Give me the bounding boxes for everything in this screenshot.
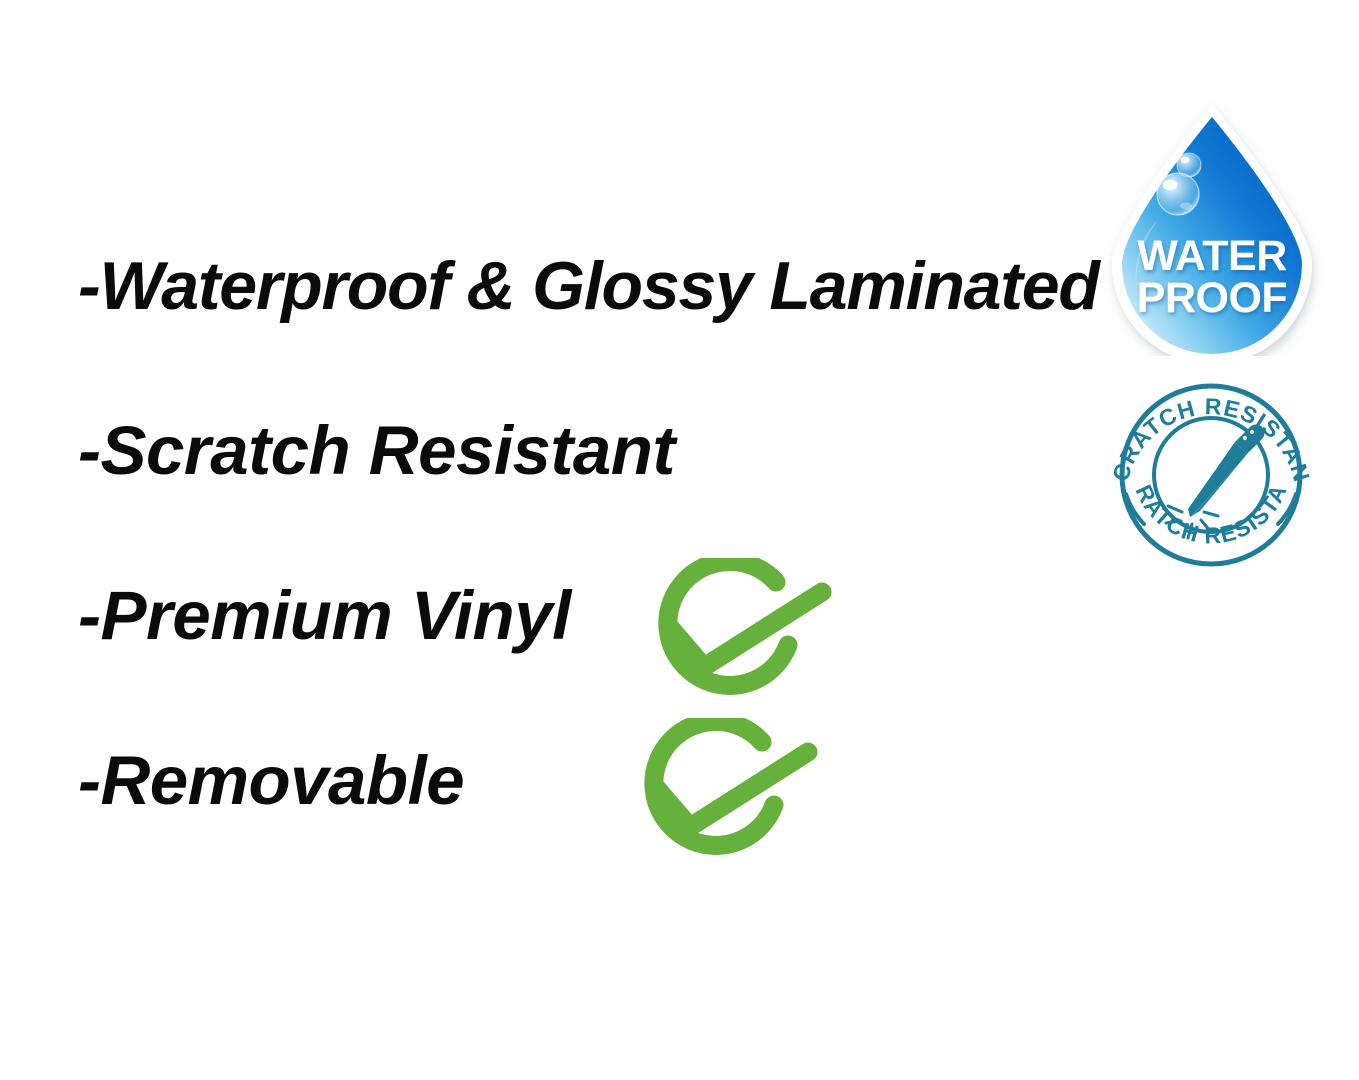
stamp-text-top: SCRATCH RESISTANT xyxy=(1104,382,1315,485)
product-feature-graphic: -Waterproof & Glossy Laminated -Scratch … xyxy=(0,0,1359,1080)
green-check-circle-premium-vinyl xyxy=(644,558,840,708)
feature-label: -Scratch Resistant xyxy=(78,413,675,489)
feature-label: -Waterproof & Glossy Laminated xyxy=(78,248,1099,324)
feature-item-waterproof-glossy-laminated: -Waterproof & Glossy Laminated xyxy=(78,248,1098,413)
feature-item-premium-vinyl: -Premium Vinyl xyxy=(78,578,1098,743)
check-tick xyxy=(654,752,808,827)
stamp-text-top-path: SCRATCH RESISTANT xyxy=(1104,382,1315,485)
scratch-resistant-stamp-badge: SCRATCH RESISTANT SCRATCH RESISTANT xyxy=(1104,382,1318,568)
feature-label: -Removable xyxy=(78,743,464,819)
knife-icon xyxy=(1188,425,1264,517)
feature-label: -Premium Vinyl xyxy=(78,578,571,654)
waterproof-line-1: WATER xyxy=(1137,232,1287,280)
green-check-circle-removable xyxy=(630,718,826,868)
waterproof-line-2: PROOF xyxy=(1137,274,1287,322)
water-bubble-large xyxy=(1157,173,1199,215)
feature-list: -Waterproof & Glossy Laminated -Scratch … xyxy=(78,248,1098,908)
feature-item-scratch-resistant: -Scratch Resistant xyxy=(78,413,1098,578)
feature-item-removable: -Removable xyxy=(78,743,1098,908)
check-tick xyxy=(668,592,822,667)
waterproof-droplet-badge: WATER PROOF xyxy=(1098,100,1326,356)
